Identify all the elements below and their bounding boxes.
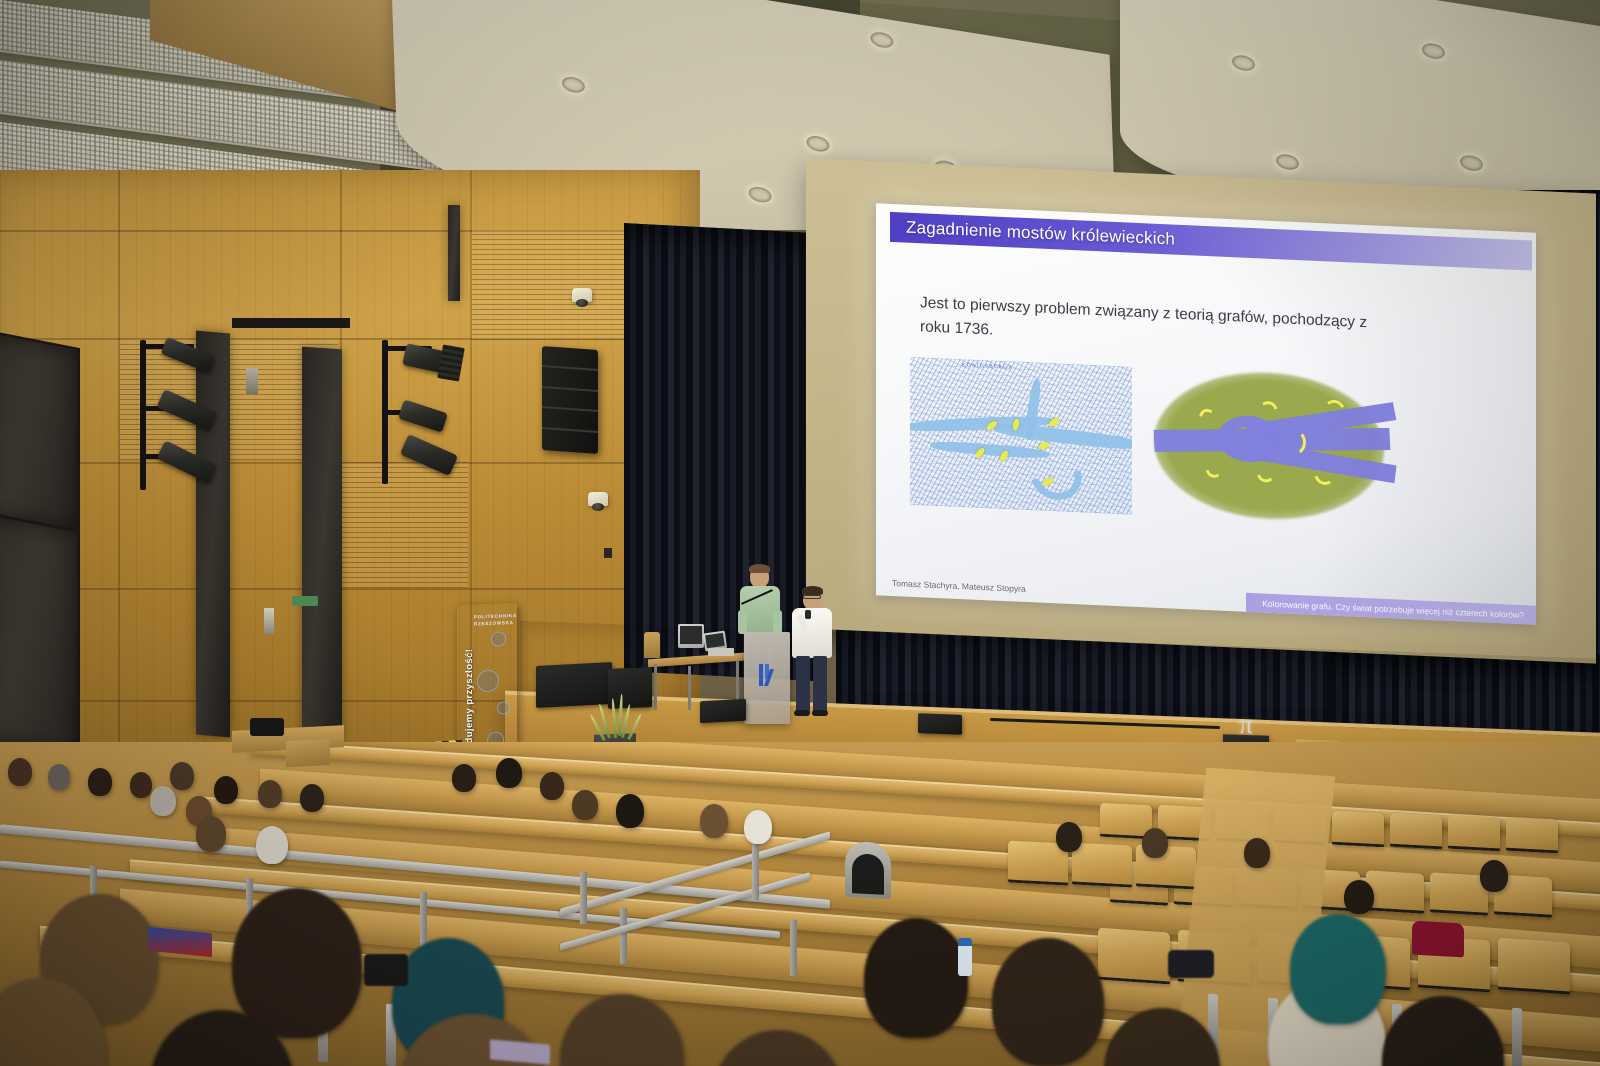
seat[interactable]	[1098, 927, 1170, 984]
spotlight-fixture	[398, 399, 448, 432]
audience-head-foreground	[864, 918, 968, 1038]
audience-head	[256, 826, 288, 864]
shoe	[812, 710, 828, 716]
rail-post	[790, 920, 797, 976]
audience-head	[1142, 828, 1168, 858]
backpack	[364, 954, 408, 986]
stage-monitor-wedge	[918, 713, 962, 735]
audience-head	[1056, 822, 1082, 852]
audience-seating-area	[0, 742, 1600, 1066]
audience-head	[8, 758, 32, 786]
audience-head	[1244, 838, 1270, 868]
audience-head	[130, 772, 152, 798]
audience-head	[496, 758, 522, 788]
audience-head-foreground-teal-hair	[1290, 914, 1386, 1024]
rail-post	[752, 842, 759, 900]
projection-screen[interactable]: Zagadnienie mostów królewieckich Jest to…	[876, 203, 1536, 624]
spotlight-fixture	[156, 389, 217, 431]
banner-university-name: POLITECHNIKA RZESZOWSKA	[474, 613, 517, 628]
molecule-icon	[477, 670, 499, 693]
audience-head	[150, 786, 176, 816]
audience-head-foreground	[712, 1030, 844, 1066]
audience-head	[572, 790, 598, 820]
audience-head	[540, 772, 564, 800]
downlight-icon	[806, 134, 830, 153]
stage-light-cluster-right	[374, 336, 494, 496]
audience-head	[700, 804, 728, 838]
rail-post	[420, 892, 427, 946]
shoe	[794, 710, 810, 716]
slide-body-text: Jest to pierwszy problem związany z teor…	[920, 291, 1496, 365]
seat[interactable]	[1390, 813, 1442, 850]
spotlight-fixture	[400, 434, 458, 476]
downlight-icon	[1422, 42, 1445, 61]
audience-head	[452, 764, 476, 792]
historical-koenigsberg-map: KÖNIGSBERGA	[910, 357, 1132, 515]
auditorium-scene: Zagadnienie mostów królewieckich Jest to…	[0, 0, 1600, 1066]
banner-slogan: Budujemy przyszłość!	[464, 648, 475, 757]
downlight-icon	[748, 185, 772, 204]
stage-light-cluster-left	[134, 336, 254, 506]
seat[interactable]	[1332, 811, 1384, 848]
seat[interactable]	[1072, 842, 1132, 887]
hair	[802, 586, 823, 595]
seat[interactable]	[1366, 870, 1424, 914]
wall-seam	[118, 170, 120, 810]
stage-monitor-wedge	[700, 699, 746, 723]
exit-sign-icon	[292, 596, 318, 606]
audience-head-foreground	[992, 938, 1104, 1066]
audience-head	[1344, 880, 1374, 914]
backpack	[1168, 950, 1214, 978]
audience-head-foreground	[560, 994, 684, 1066]
spotlight-fixture	[161, 337, 216, 373]
presenter-with-microphone	[790, 588, 834, 720]
chair	[286, 739, 330, 767]
downlight-icon	[1276, 153, 1299, 172]
wall-sensor-icon	[604, 548, 612, 558]
audience-head	[616, 794, 644, 828]
slide-title: Zagadnienie mostów królewieckich	[890, 217, 1175, 250]
bridge-marker	[1037, 441, 1050, 451]
line-array-speaker	[542, 346, 598, 454]
av-table-group	[648, 646, 744, 702]
equipment-case	[536, 662, 612, 708]
wall-light-fitting	[264, 608, 274, 634]
ptz-camera-icon	[572, 288, 592, 302]
rail-post	[580, 872, 587, 924]
hair	[749, 564, 770, 573]
audience-head	[258, 780, 282, 808]
audience-head-foreground	[232, 888, 362, 1038]
slide-figures: KÖNIGSBERGA	[910, 357, 1510, 534]
audience-head	[48, 764, 70, 790]
downlight-icon	[562, 75, 586, 94]
audience-head	[88, 768, 112, 796]
seat[interactable]	[1498, 937, 1570, 994]
keyboard-icon	[708, 648, 734, 656]
seat-arm	[1512, 1008, 1522, 1066]
wall-dark-column	[302, 347, 342, 746]
audience-head	[196, 816, 226, 852]
wall-seam	[0, 588, 700, 590]
arm	[773, 610, 782, 634]
seat[interactable]	[1448, 815, 1500, 852]
rail-post	[620, 908, 627, 964]
monitor-icon	[678, 624, 704, 648]
stage-curtain-left	[624, 223, 814, 681]
microphone-icon	[805, 610, 811, 619]
wall-ribbed-panel	[472, 230, 632, 340]
audience-head	[744, 810, 772, 844]
wall-header-trim	[232, 318, 350, 328]
water-bottle	[958, 938, 972, 976]
pi-sculpture-glyph: π	[1233, 712, 1259, 738]
wall-light-fitting	[246, 368, 258, 394]
koenigsberg-bridges-schematic	[1154, 368, 1384, 524]
molecule-icon	[497, 701, 510, 714]
equipment-enclosure	[845, 841, 891, 899]
slide-footer-authors: Tomasz Stachyra, Mateusz Stopyra	[892, 578, 1026, 594]
downlight-icon	[1460, 154, 1483, 173]
arm	[738, 610, 747, 634]
downlight-icon	[870, 31, 894, 50]
wall-dark-column	[448, 205, 460, 301]
audience-head	[1480, 860, 1508, 892]
audience-head	[170, 762, 194, 790]
ptz-camera-icon	[588, 492, 608, 506]
downlight-icon	[1232, 54, 1255, 73]
map-caption: KÖNIGSBERGA	[962, 363, 1013, 370]
presenter-at-podium	[736, 566, 784, 646]
molecule-icon	[491, 631, 506, 647]
wall-blind-panel	[0, 328, 80, 534]
seat[interactable]	[1506, 817, 1558, 854]
leg	[796, 656, 810, 712]
spotlight-fixture	[157, 440, 218, 483]
equipment-case	[608, 667, 652, 709]
audience-head	[300, 784, 324, 812]
audience-head	[214, 776, 238, 804]
glasses-icon	[803, 595, 821, 599]
leg	[813, 656, 827, 712]
chair	[644, 632, 660, 658]
wall-blind-panel	[0, 510, 80, 760]
barndoor-icon	[437, 344, 465, 381]
bag	[250, 718, 284, 736]
prz-logo-icon	[756, 662, 776, 688]
red-jacket	[1412, 921, 1464, 958]
